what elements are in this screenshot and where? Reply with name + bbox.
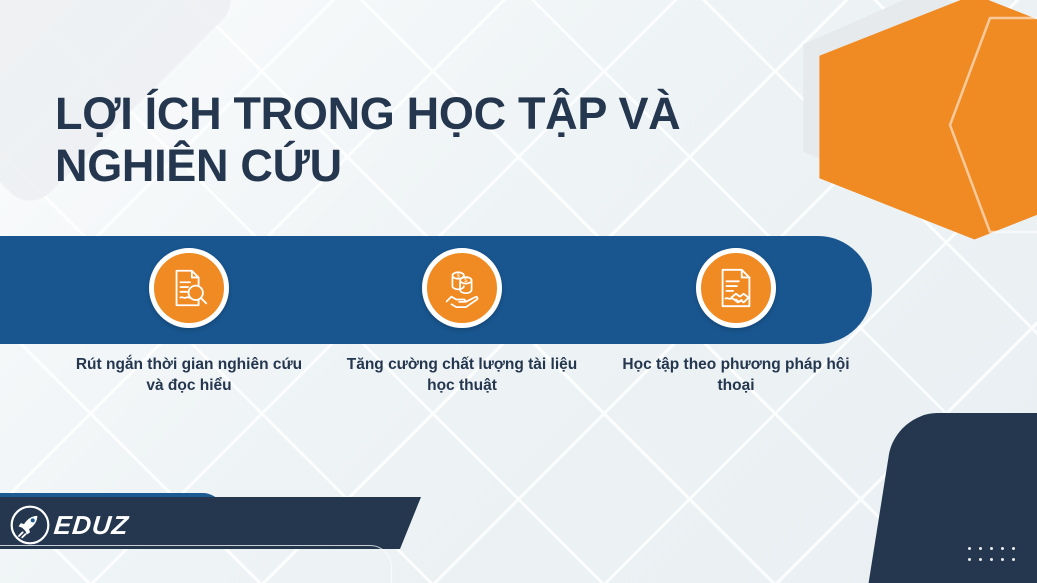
dot	[979, 558, 982, 561]
dot	[968, 558, 971, 561]
document-handshake-icon	[696, 248, 776, 328]
feature-item-3[interactable]: Học tập theo phương pháp hội thoại	[596, 236, 876, 396]
brand-logo[interactable]: EDUZ	[8, 503, 129, 547]
logo-text: EDUZ	[52, 510, 130, 541]
bottom-left-outline-bar	[0, 545, 392, 583]
rocket-circle-icon	[8, 503, 52, 547]
feature-caption-1: Rút ngắn thời gian nghiên cứu và đọc hiể…	[49, 354, 329, 396]
slide-canvas: LỢI ÍCH TRONG HỌC TẬP VÀ NGHIÊN CỨU Rút …	[0, 0, 1037, 583]
dot	[990, 558, 993, 561]
dot	[979, 547, 982, 550]
dot	[1001, 547, 1004, 550]
dot	[1001, 558, 1004, 561]
feature-list: Rút ngắn thời gian nghiên cứu và đọc hiể…	[0, 236, 900, 416]
dot	[990, 547, 993, 550]
dot	[1012, 547, 1015, 550]
feature-caption-3: Học tập theo phương pháp hội thoại	[596, 354, 876, 396]
feature-item-2[interactable]: $ $ Tăng cường chất lượng tài liệu học t…	[322, 236, 602, 396]
document-magnifier-icon	[149, 248, 229, 328]
dot-grid-decoration	[968, 547, 1023, 569]
hexagon-outline-decoration	[930, 10, 1037, 240]
feature-caption-2: Tăng cường chất lượng tài liệu học thuật	[322, 354, 602, 396]
dot	[1012, 558, 1015, 561]
hand-holding-coins-icon: $ $	[422, 248, 502, 328]
page-title: LỢI ÍCH TRONG HỌC TẬP VÀ NGHIÊN CỨU	[55, 88, 755, 192]
dot	[968, 547, 971, 550]
feature-item-1[interactable]: Rút ngắn thời gian nghiên cứu và đọc hiể…	[49, 236, 329, 396]
